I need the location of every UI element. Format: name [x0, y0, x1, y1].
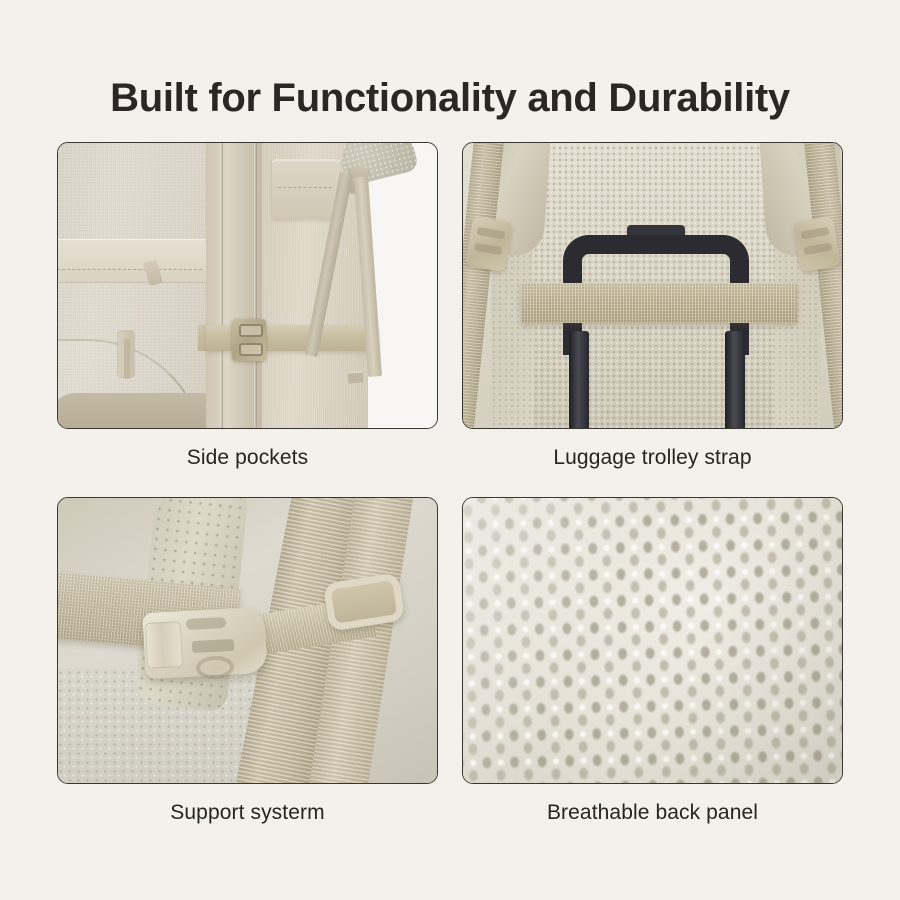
feature-card-side-pockets: Side pockets [57, 142, 438, 470]
buckle-slot-lower [192, 639, 235, 653]
patch-pocket-stitch [278, 187, 332, 188]
feature-card-luggage-trolley-strap: Luggage trolley strap [462, 142, 843, 470]
trolley-strap-sleeve [521, 283, 797, 323]
feature-image-luggage-trolley-strap [462, 142, 843, 429]
feature-card-support-system: Support systerm [57, 497, 438, 825]
buckle-prong-housing [145, 621, 183, 669]
side-slash-pocket [58, 239, 210, 283]
zipper-teeth-left [220, 143, 223, 428]
upper-patch-pocket [272, 159, 340, 219]
woven-brand-label-text [124, 339, 130, 379]
luggage-trolley-strap-photo [463, 143, 842, 428]
feature-caption-support-system: Support systerm [57, 801, 438, 825]
feature-image-breathable-back-panel [462, 497, 843, 784]
trolley-tube-left [569, 331, 589, 428]
support-system-photo [58, 498, 437, 783]
strap-adjuster-buckle-right [793, 216, 841, 272]
feature-caption-breathable-back-panel: Breathable back panel [462, 801, 843, 825]
trolley-tube-right [725, 331, 745, 428]
feature-card-breathable-back-panel: Breathable back panel [462, 497, 843, 825]
feature-image-side-pockets [57, 142, 438, 429]
pocket-stitch-line [58, 269, 202, 270]
feature-grid: Side pockets [57, 142, 843, 825]
feature-caption-side-pockets: Side pockets [57, 446, 438, 470]
breathable-back-panel-photo [463, 498, 842, 783]
metal-clasp-buckle [232, 319, 266, 361]
feature-page: Built for Functionality and Durability [0, 0, 900, 900]
page-title: Built for Functionality and Durability [0, 76, 900, 121]
zipper-teeth-right [254, 143, 257, 428]
hanging-strap-tip [348, 370, 364, 383]
feature-image-support-system [57, 497, 438, 784]
buckle-slot-upper [186, 617, 227, 630]
strap-adjuster-buckle-left [465, 216, 513, 272]
feature-caption-luggage-trolley-strap: Luggage trolley strap [462, 446, 843, 470]
side-pockets-photo [58, 143, 437, 428]
photo-lighting-sheen [463, 498, 842, 783]
